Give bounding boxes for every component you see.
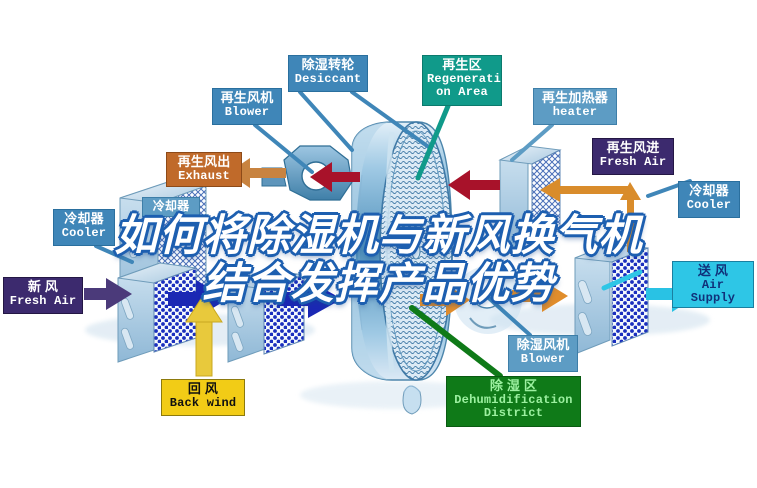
callout-air-supply-cn: 送 风 — [677, 264, 749, 279]
callout-back-wind-en: Back wind — [166, 397, 240, 410]
callout-regeneration-blower-cn: 再生风机 — [217, 91, 277, 106]
desiccant-rotor — [352, 122, 452, 414]
callout-regeneration-blower: 再生风机Blower — [212, 88, 282, 125]
callout-cooler-left-cn: 冷却器 — [58, 212, 110, 227]
callout-cooler-right: 冷却器Cooler — [678, 181, 740, 218]
callout-fresh-air-inlet-cn: 新 风 — [8, 280, 78, 295]
callout-regeneration-area-en: Regenerati on Area — [427, 73, 497, 100]
callout-dehumidify-blower: 除湿风机Blower — [508, 335, 578, 372]
callout-dehumidify-blower-cn: 除湿风机 — [513, 338, 573, 353]
callout-cooler-right-cn: 冷却器 — [683, 184, 735, 199]
callout-cooler-right-en: Cooler — [683, 199, 735, 212]
callout-regeneration-area: 再生区Regenerati on Area — [422, 55, 502, 106]
callout-fresh-air-inlet: 新 风Fresh Air — [3, 277, 83, 314]
callout-back-wind-cn: 回 风 — [166, 382, 240, 397]
callout-exhaust-cn: 再生风出 — [171, 155, 237, 170]
callout-air-supply: 送 风Air Supply — [672, 261, 754, 308]
process-filter-middle — [228, 270, 304, 362]
callout-regeneration-heater-cn: 再生加热器 — [538, 91, 612, 106]
callout-regeneration-blower-en: Blower — [217, 106, 277, 119]
watermark-text: xt — [392, 316, 403, 328]
callout-dehumidify-blower-en: Blower — [513, 353, 573, 366]
supply-coil-unit-right — [575, 228, 648, 354]
callout-regeneration-heater-en: heater — [538, 106, 612, 119]
callout-regeneration-area-cn: 再生区 — [427, 58, 497, 73]
callout-cooler-left-upper-cn: 冷却器 — [147, 200, 195, 213]
callout-back-wind: 回 风Back wind — [161, 379, 245, 416]
callout-fresh-air-inlet-en: Fresh Air — [8, 295, 78, 308]
callout-dehumidify-district-en: Dehumidification District — [451, 394, 576, 421]
callout-desiccant-rotor-en: Desiccant — [293, 73, 363, 86]
callout-exhaust-en: Exhaust — [171, 170, 237, 183]
callout-air-supply-en: Air Supply — [677, 279, 749, 306]
callout-cooler-left: 冷却器Cooler — [53, 209, 115, 246]
callout-regeneration-intake: 再生风进Fresh Air — [592, 138, 674, 175]
regeneration-heater-unit — [500, 146, 560, 254]
callout-cooler-left-en: Cooler — [58, 227, 110, 240]
arrow-regen-into-rotor — [448, 170, 500, 200]
callout-cooler-left-upper: 冷却器 — [142, 197, 200, 217]
callout-regeneration-intake-en: Fresh Air — [597, 156, 669, 169]
callout-desiccant-rotor-cn: 除湿转轮 — [293, 58, 363, 73]
callout-regeneration-intake-cn: 再生风进 — [597, 141, 669, 156]
callout-dehumidify-district-cn: 除 湿 区 — [451, 379, 576, 394]
callout-regeneration-heater: 再生加热器heater — [533, 88, 617, 125]
process-filter-left — [118, 263, 196, 362]
diagram-canvas: 除湿转轮Desiccant再生风机Blower再生区Regenerati on … — [0, 0, 757, 488]
callout-dehumidify-district: 除 湿 区Dehumidification District — [446, 376, 581, 427]
callout-exhaust: 再生风出Exhaust — [166, 152, 242, 187]
callout-desiccant-rotor: 除湿转轮Desiccant — [288, 55, 368, 92]
